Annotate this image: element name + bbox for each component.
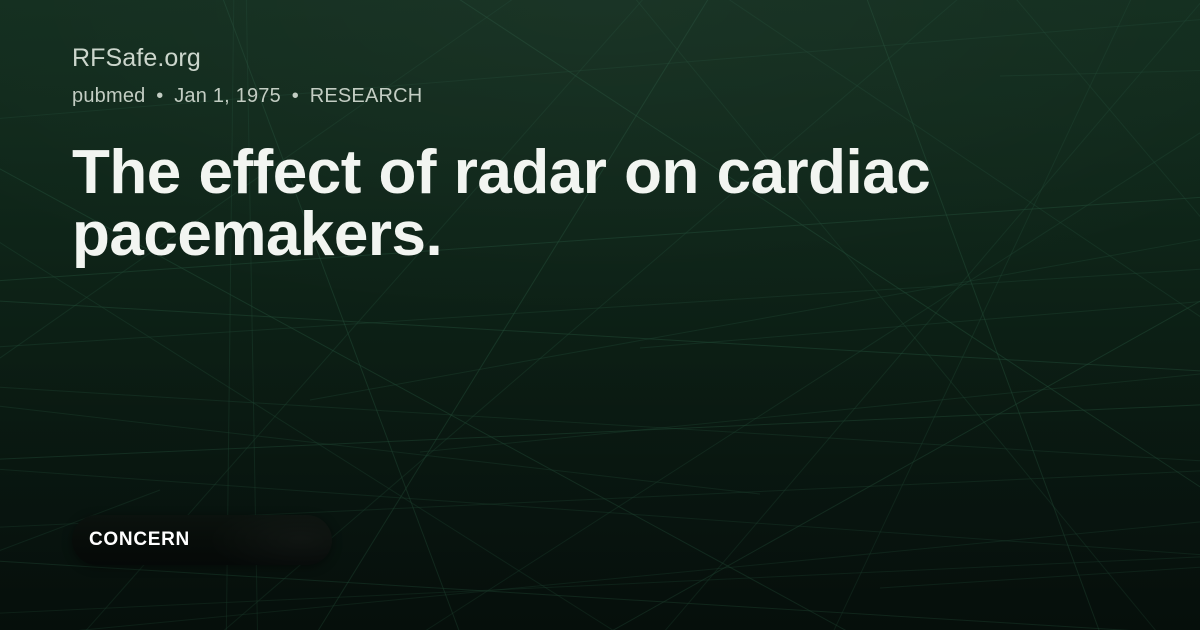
status-badge-label: CONCERN (89, 529, 190, 551)
badge-row: CONCERN (72, 515, 332, 565)
page-title: The effect of radar on cardiac pacemaker… (72, 142, 1082, 266)
meta-category: RESEARCH (310, 85, 423, 107)
meta-source: pubmed (72, 85, 145, 107)
site-name: RFSafe.org (72, 43, 201, 73)
meta-separator-2: • (287, 85, 304, 107)
status-badge: CONCERN (72, 515, 332, 565)
card-content: RFSafe.org pubmed • Jan 1, 1975 • RESEAR… (0, 0, 1200, 630)
social-share-card: RFSafe.org pubmed • Jan 1, 1975 • RESEAR… (0, 0, 1200, 630)
article-meta: pubmed • Jan 1, 1975 • RESEARCH (72, 83, 422, 109)
meta-separator-1: • (151, 85, 168, 107)
meta-date: Jan 1, 1975 (174, 85, 281, 107)
